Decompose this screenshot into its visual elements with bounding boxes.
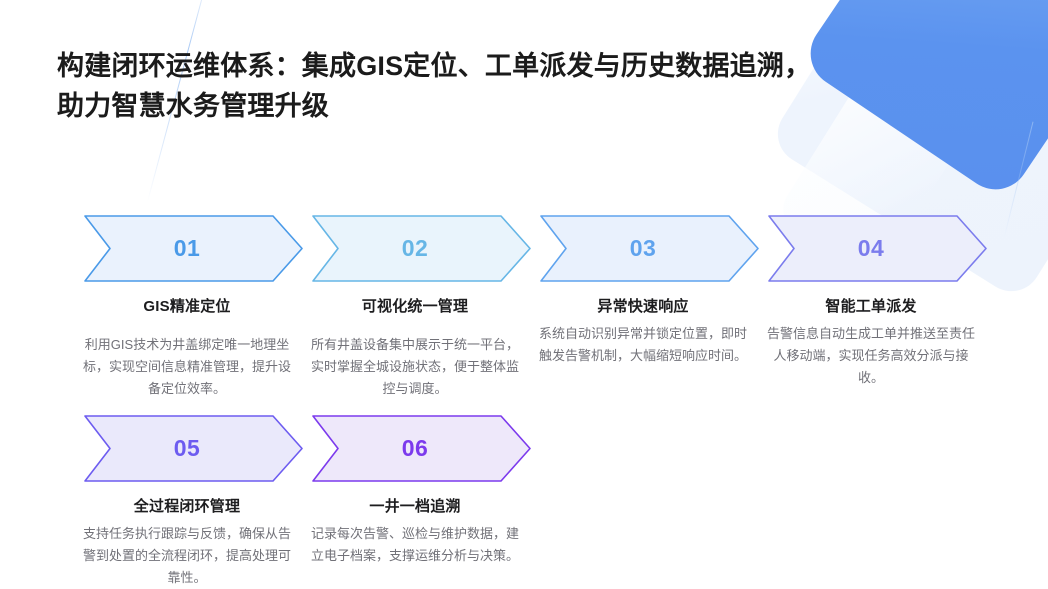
- card-title: 一井一档追溯: [305, 495, 525, 516]
- card-number: 05: [77, 415, 297, 482]
- chevron-banner: 03: [533, 215, 761, 282]
- card-number: 01: [77, 215, 297, 282]
- chevron-banner: 02: [305, 215, 533, 282]
- card-description: 支持任务执行跟踪与反馈，确保从告警到处置的全流程闭环，提高处理可靠性。: [83, 523, 291, 589]
- card-title: GIS精准定位: [77, 295, 297, 316]
- process-card[interactable]: 05全过程闭环管理支持任务执行跟踪与反馈，确保从告警到处置的全流程闭环，提高处理…: [77, 415, 305, 589]
- card-number: 06: [305, 415, 525, 482]
- card-title: 异常快速响应: [533, 295, 753, 316]
- card-title: 全过程闭环管理: [77, 495, 297, 516]
- process-card[interactable]: 06一井一档追溯记录每次告警、巡检与维护数据，建立电子档案，支撑运维分析与决策。: [305, 415, 533, 567]
- card-description: 利用GIS技术为井盖绑定唯一地理坐标，实现空间信息精准管理，提升设备定位效率。: [83, 334, 291, 400]
- process-card[interactable]: 03异常快速响应系统自动识别异常并锁定位置，即时触发告警机制，大幅缩短响应时间。: [533, 215, 761, 367]
- card-description: 所有井盖设备集中展示于统一平台，实时掌握全城设施状态，便于整体监控与调度。: [311, 334, 519, 400]
- process-card[interactable]: 02可视化统一管理所有井盖设备集中展示于统一平台，实时掌握全城设施状态，便于整体…: [305, 215, 533, 400]
- card-number: 02: [305, 215, 525, 282]
- card-description: 记录每次告警、巡检与维护数据，建立电子档案，支撑运维分析与决策。: [311, 523, 519, 567]
- chevron-banner: 06: [305, 415, 533, 482]
- card-title: 智能工单派发: [761, 295, 981, 316]
- chevron-banner: 04: [761, 215, 989, 282]
- chevron-banner: 01: [77, 215, 305, 282]
- chevron-banner: 05: [77, 415, 305, 482]
- process-card[interactable]: 04智能工单派发告警信息自动生成工单并推送至责任人移动端，实现任务高效分派与接收…: [761, 215, 989, 389]
- card-description: 系统自动识别异常并锁定位置，即时触发告警机制，大幅缩短响应时间。: [539, 323, 747, 367]
- page-title: 构建闭环运维体系：集成GIS定位、工单派发与历史数据追溯， 助力智慧水务管理升级: [57, 46, 987, 126]
- process-card[interactable]: 01GIS精准定位利用GIS技术为井盖绑定唯一地理坐标，实现空间信息精准管理，提…: [77, 215, 305, 400]
- card-number: 03: [533, 215, 753, 282]
- card-title: 可视化统一管理: [305, 295, 525, 316]
- card-number: 04: [761, 215, 981, 282]
- card-description: 告警信息自动生成工单并推送至责任人移动端，实现任务高效分派与接收。: [767, 323, 975, 389]
